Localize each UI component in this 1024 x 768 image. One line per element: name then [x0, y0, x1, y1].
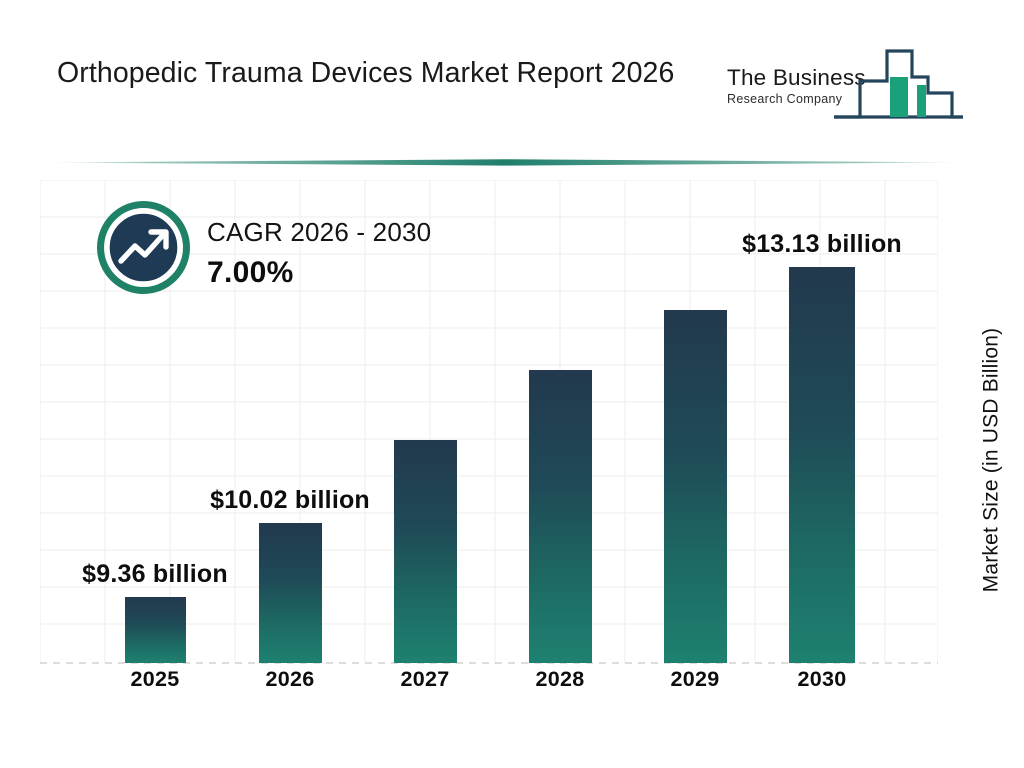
bar-value-label-2025: $9.36 billion — [60, 558, 250, 591]
bar-2025[interactable] — [125, 597, 186, 663]
x-axis-tick-2026: 2026 — [230, 667, 350, 692]
bar-2030[interactable] — [789, 267, 855, 663]
x-axis-tick-2027: 2027 — [365, 667, 485, 692]
bar-value-amount-2030: $13.13 billion — [727, 228, 917, 261]
bar-value-label-2026: $10.02 billion — [195, 484, 385, 517]
bar-2028[interactable] — [529, 370, 592, 663]
x-axis-tick-2029: 2029 — [635, 667, 755, 692]
bar-2026[interactable] — [259, 523, 322, 663]
header-divider — [40, 158, 970, 167]
bar-2027[interactable] — [394, 440, 457, 663]
cagr-value: 7.00% — [207, 256, 294, 290]
company-logo: The Business Research Company — [727, 33, 965, 125]
bar-chart-skyline-logo-icon — [832, 33, 965, 125]
bar-value-amount-2025: $9.36 billion — [60, 558, 250, 591]
x-axis-tick-2025: 2025 — [95, 667, 215, 692]
x-axis-tick-2028: 2028 — [500, 667, 620, 692]
bar-value-amount-2026: $10.02 billion — [195, 484, 385, 517]
cagr-period-label: CAGR 2026 - 2030 — [207, 217, 431, 248]
bar-2029[interactable] — [664, 310, 727, 663]
trending-up-arrow-icon — [97, 201, 190, 294]
y-axis-title-text: Market Size (in USD Billion) — [979, 328, 1003, 593]
page-header: Orthopedic Trauma Devices Market Report … — [0, 0, 1024, 150]
bar-value-label-2030: $13.13 billion — [727, 228, 917, 261]
cagr-callout: CAGR 2026 - 2030 7.00% — [97, 201, 497, 311]
page-title: Orthopedic Trauma Devices Market Report … — [57, 53, 717, 94]
bar-chart: $9.36 billion $10.02 billion $13.13 bill… — [0, 167, 1024, 768]
x-axis-tick-2030: 2030 — [762, 667, 882, 692]
y-axis-title: Market Size (in USD Billion) — [974, 270, 1008, 650]
